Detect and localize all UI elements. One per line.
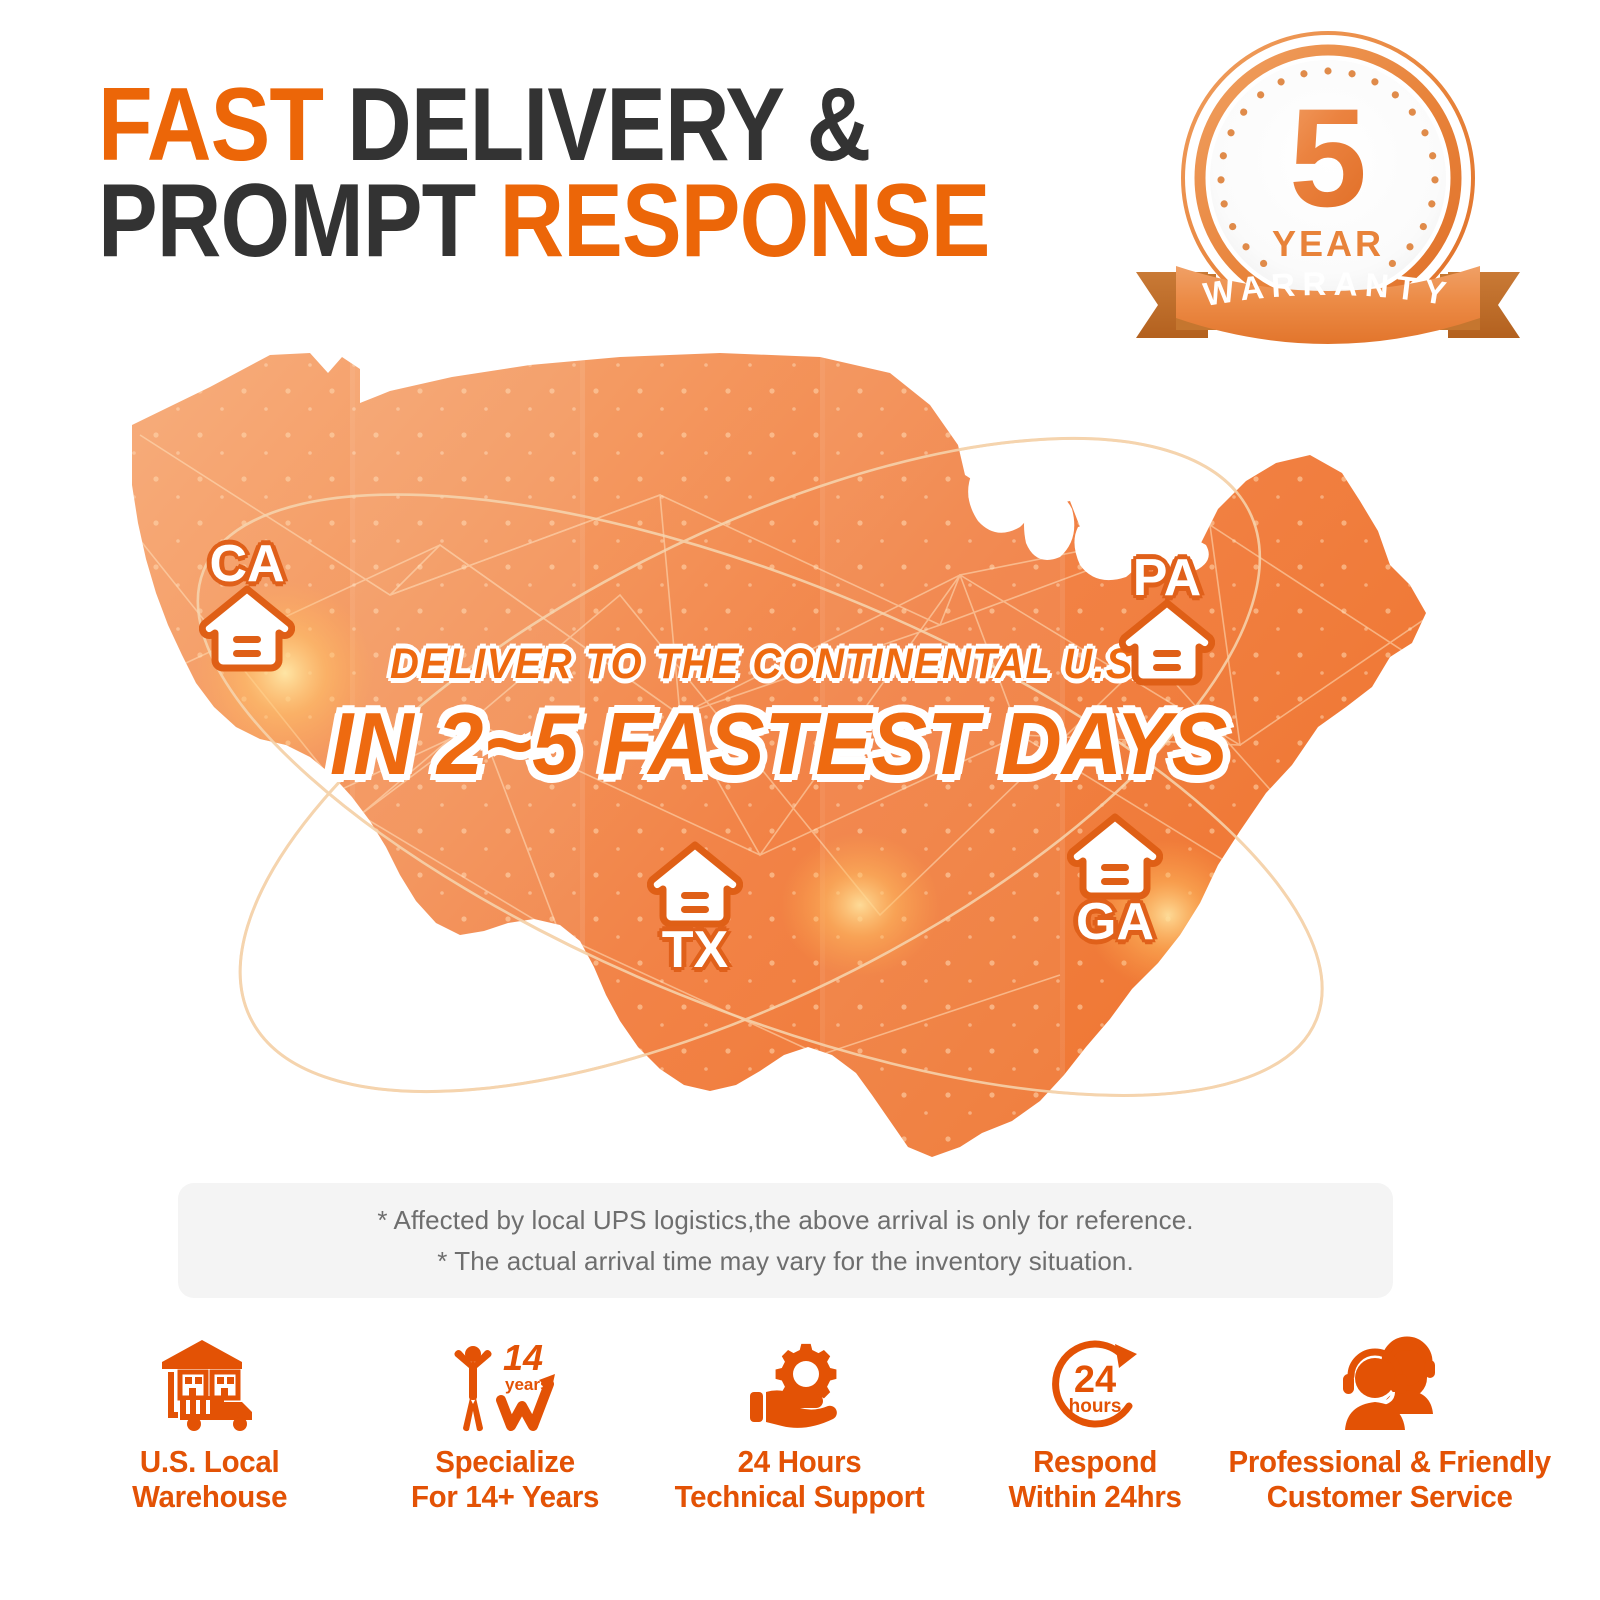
feature-label-line-1: Professional & Friendly bbox=[1229, 1444, 1551, 1479]
feature-label: U.S. Local Warehouse bbox=[132, 1444, 287, 1515]
feature-us-local-warehouse[interactable]: U.S. Local Warehouse bbox=[70, 1332, 350, 1515]
feature-label-line-1: U.S. Local bbox=[132, 1444, 287, 1479]
map-marker-pa-label: PA bbox=[1133, 552, 1201, 604]
customer-service-agents-icon bbox=[1331, 1332, 1449, 1436]
headline-line-1: FAST DELIVERY & bbox=[98, 78, 958, 174]
feature-label-line-2: For 14+ Years bbox=[411, 1479, 599, 1514]
badge-year-number: 5 bbox=[1289, 79, 1367, 236]
clock-24-hours-icon: 24 hours bbox=[1041, 1332, 1149, 1436]
feature-label-line-1: 24 Hours bbox=[675, 1444, 925, 1479]
map-marker-ga-label: GA bbox=[1076, 896, 1154, 948]
warehouse-house-icon bbox=[199, 584, 295, 672]
warehouse-house-icon bbox=[1067, 812, 1163, 900]
experience-years-number: 14 bbox=[503, 1337, 543, 1378]
feature-label-line-2: Within 24hrs bbox=[1008, 1479, 1181, 1514]
hand-gear-support-icon bbox=[744, 1332, 856, 1436]
headline-prompt: PROMPT bbox=[98, 163, 499, 279]
map-marker-tx-label: TX bbox=[662, 924, 728, 976]
feature-label-line-2: Customer Service bbox=[1229, 1479, 1551, 1514]
feature-label: Specialize For 14+ Years bbox=[411, 1444, 599, 1515]
warehouse-truck-icon bbox=[156, 1332, 264, 1436]
feature-label-line-2: Warehouse bbox=[132, 1479, 287, 1514]
feature-label-line-1: Respond bbox=[1008, 1444, 1181, 1479]
map-marker-tx[interactable]: TX bbox=[620, 840, 770, 976]
glow-central bbox=[780, 833, 940, 977]
feature-24-hours-technical-support[interactable]: 24 Hours Technical Support bbox=[660, 1332, 940, 1515]
feature-label-line-2: Technical Support bbox=[675, 1479, 925, 1514]
feature-specialize-14-years[interactable]: 14 years Specialize For 14+ Years bbox=[365, 1332, 645, 1515]
us-delivery-map bbox=[60, 295, 1490, 1195]
infographic-canvas: FAST DELIVERY & PROMPT RESPONSE bbox=[0, 0, 1600, 1600]
disclaimer-box: * Affected by local UPS logistics,the ab… bbox=[178, 1183, 1393, 1298]
feature-label: Respond Within 24hrs bbox=[1008, 1444, 1181, 1515]
respond-hours-number: 24 bbox=[1074, 1359, 1116, 1401]
warehouse-house-icon bbox=[1119, 598, 1215, 686]
experience-growth-icon: 14 years bbox=[443, 1332, 567, 1436]
feature-label: Professional & Friendly Customer Service bbox=[1229, 1444, 1551, 1515]
page-title: FAST DELIVERY & PROMPT RESPONSE bbox=[98, 78, 1098, 269]
feature-respond-within-24hrs[interactable]: 24 hours Respond Within 24hrs bbox=[955, 1332, 1235, 1515]
warehouse-house-icon bbox=[647, 840, 743, 928]
headline-accent-response: RESPONSE bbox=[499, 163, 989, 279]
respond-hours-unit: hours bbox=[1069, 1396, 1122, 1417]
map-marker-ca[interactable]: CA bbox=[172, 538, 322, 672]
badge-year-label: YEAR bbox=[1272, 223, 1384, 264]
map-marker-ga[interactable]: GA bbox=[1040, 812, 1190, 948]
disclaimer-line-1: * Affected by local UPS logistics,the ab… bbox=[377, 1200, 1193, 1240]
feature-label-line-1: Specialize bbox=[411, 1444, 599, 1479]
map-marker-pa[interactable]: PA bbox=[1092, 552, 1242, 686]
map-marker-ca-label: CA bbox=[209, 538, 284, 590]
feature-professional-customer-service[interactable]: Professional & Friendly Customer Service bbox=[1250, 1332, 1530, 1515]
disclaimer-line-2: * The actual arrival time may vary for t… bbox=[437, 1241, 1134, 1281]
feature-strip: U.S. Local Warehouse 14 years bbox=[70, 1332, 1530, 1542]
headline-line-2: PROMPT RESPONSE bbox=[98, 174, 958, 270]
feature-label: 24 Hours Technical Support bbox=[675, 1444, 925, 1515]
